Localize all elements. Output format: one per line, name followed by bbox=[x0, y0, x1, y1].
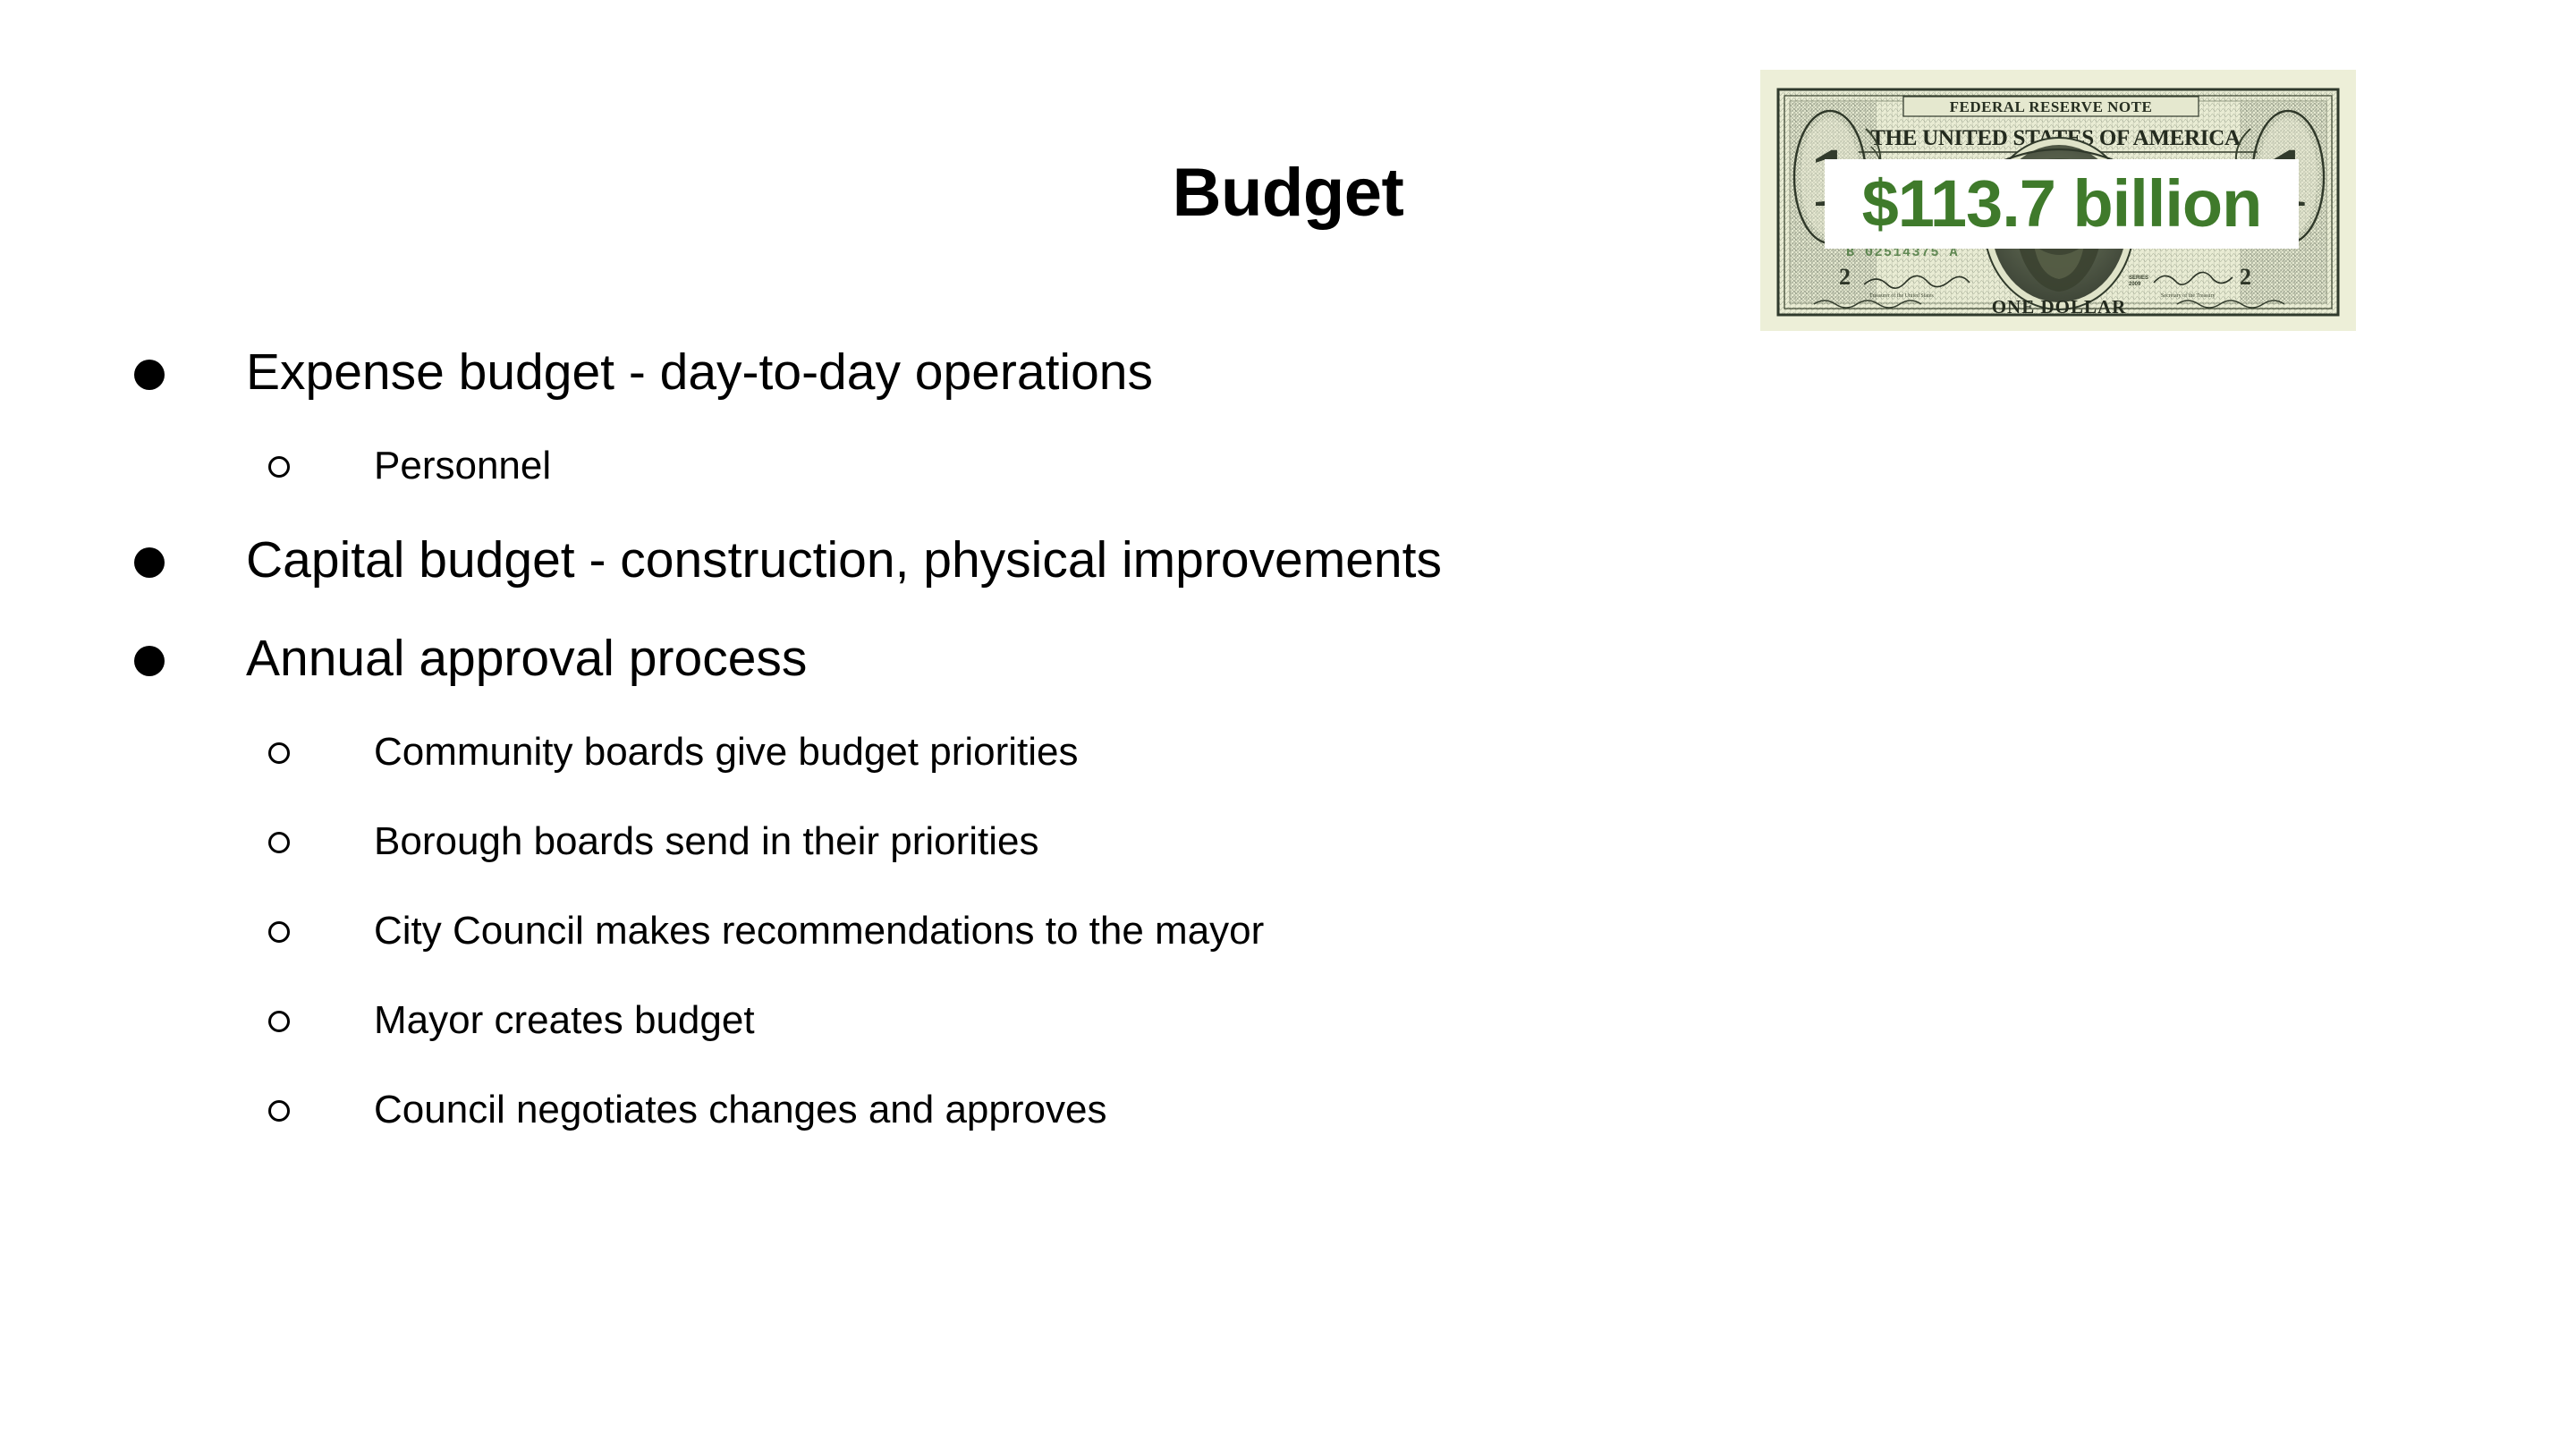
list-item: City Council makes recommendations to th… bbox=[0, 903, 1968, 993]
list-item-label: Mayor creates budget bbox=[374, 993, 755, 1048]
hollow-circle-bullet-icon bbox=[268, 814, 374, 853]
list-item-label: City Council makes recommendations to th… bbox=[374, 903, 1264, 959]
list-item-label: Capital budget - construction, physical … bbox=[246, 528, 1442, 592]
list-item-label: Borough boards send in their priorities bbox=[374, 814, 1039, 869]
list-item: Personnel bbox=[0, 438, 1968, 528]
filled-circle-bullet-icon bbox=[134, 340, 246, 390]
budget-amount-text: $113.7 billion bbox=[1862, 171, 2262, 237]
list-item: Expense budget - day-to-day operations bbox=[0, 340, 1968, 438]
list-item-label: Personnel bbox=[374, 438, 551, 494]
hollow-circle-bullet-icon bbox=[268, 438, 374, 478]
list-item-label: Expense budget - day-to-day operations bbox=[246, 340, 1153, 404]
slide-canvas: Budget bbox=[0, 0, 2576, 1449]
svg-text:2: 2 bbox=[1839, 264, 1851, 290]
list-item: Community boards give budget priorities bbox=[0, 724, 1968, 814]
svg-text:Treasurer of the United States: Treasurer of the United States bbox=[1869, 292, 1934, 299]
svg-text:2: 2 bbox=[2240, 264, 2251, 290]
list-item-label: Council negotiates changes and approves bbox=[374, 1082, 1106, 1138]
list-item: Council negotiates changes and approves bbox=[0, 1082, 1968, 1172]
content-bullet-list: Expense budget - day-to-day operations P… bbox=[0, 340, 1968, 1172]
filled-circle-bullet-icon bbox=[134, 528, 246, 578]
list-item-label: Annual approval process bbox=[246, 626, 807, 691]
list-item: Borough boards send in their priorities bbox=[0, 814, 1968, 903]
list-item: Annual approval process bbox=[0, 626, 1968, 724]
svg-text:ONE DOLLAR: ONE DOLLAR bbox=[1992, 296, 2127, 318]
hollow-circle-bullet-icon bbox=[268, 993, 374, 1032]
hollow-circle-bullet-icon bbox=[268, 1082, 374, 1122]
hollow-circle-bullet-icon bbox=[268, 903, 374, 943]
hollow-circle-bullet-icon bbox=[268, 724, 374, 764]
svg-text:FEDERAL RESERVE NOTE: FEDERAL RESERVE NOTE bbox=[1950, 98, 2153, 115]
dollar-bill-figure: FEDERAL RESERVE NOTE THE UNITED STATES O… bbox=[1760, 70, 2356, 331]
svg-text:2009: 2009 bbox=[2129, 282, 2141, 287]
budget-amount-callout: $113.7 billion bbox=[1825, 159, 2299, 249]
filled-circle-bullet-icon bbox=[134, 626, 246, 676]
svg-text:SERIES: SERIES bbox=[2129, 275, 2148, 281]
list-item: Mayor creates budget bbox=[0, 993, 1968, 1082]
list-item-label: Community boards give budget priorities bbox=[374, 724, 1079, 780]
svg-text:Secretary of the Treasury: Secretary of the Treasury bbox=[2161, 292, 2215, 299]
list-item: Capital budget - construction, physical … bbox=[0, 528, 1968, 626]
